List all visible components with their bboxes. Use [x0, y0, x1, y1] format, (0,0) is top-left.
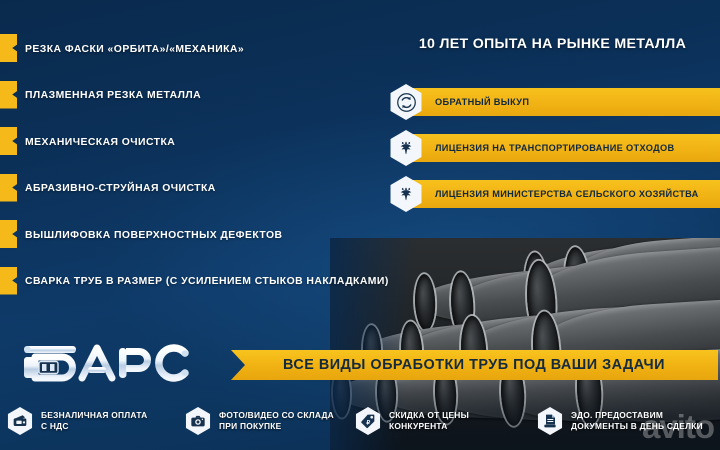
feature-label: ЭДО. ПРЕДОСТАВИМ ДОКУМЕНТЫ В ДЕНЬ СДЕЛКИ	[571, 410, 703, 432]
service-item: СВАРКА ТРУБ В РАЗМЕР (С УСИЛЕНИЕМ СТЫКОВ…	[0, 259, 400, 306]
credentials-badges: ОБРАТНЫЙ ВЫКУП ЛИЦЕНЗИЯ НА ТРАНСПОРТИРОВ…	[388, 84, 720, 222]
credential-label: ЛИЦЕНЗИЯ НА ТРАНСПОРТИРОВАНИЕ ОТХОДОВ	[435, 134, 675, 162]
feature-item: БЕЗНАЛИЧНАЯ ОПЛАТА С НДС	[0, 398, 178, 444]
feature-item: ЭДО. ПРЕДОСТАВИМ ДОКУМЕНТЫ В ДЕНЬ СДЕЛКИ	[530, 398, 720, 444]
credential-badge: ЛИЦЕНЗИЯ МИНИСТЕРСТВА СЕЛЬСКОГО ХОЗЯЙСТВ…	[388, 176, 720, 222]
feature-label-line1: СКИДКА ОТ ЦЕНЫ КОНКУРЕНТА	[389, 410, 469, 431]
service-label: АБРАЗИВНО-СТРУЙНАЯ ОЧИСТКА	[25, 183, 216, 194]
service-label: МЕХАНИЧЕСКАЯ ОЧИСТКА	[25, 137, 175, 148]
service-label: СВАРКА ТРУБ В РАЗМЕР (С УСИЛЕНИЕМ СТЫКОВ…	[25, 276, 389, 287]
service-label: ПЛАЗМЕННАЯ РЕЗКА МЕТАЛЛА	[25, 90, 201, 101]
feature-label: ФОТО/ВИДЕО СО СКЛАДА ПРИ ПОКУПКЕ	[219, 410, 334, 432]
services-list: РЕЗКА ФАСКИ «ОРБИТА»/«МЕХАНИКА» ПЛАЗМЕНН…	[0, 26, 400, 305]
headline-text: 10 ЛЕТ ОПЫТА НА РЫНКЕ МЕТАЛЛА	[400, 36, 705, 52]
bullet-tab-icon	[0, 174, 17, 202]
company-logo	[18, 340, 193, 384]
service-item: ВЫШЛИФОВКА ПОВЕРХНОСТНЫХ ДЕФЕКТОВ	[0, 212, 400, 259]
feature-label-line1: БЕЗНАЛИЧНАЯ ОПЛАТА	[41, 410, 147, 420]
feature-label-line2: ДОКУМЕНТЫ В ДЕНЬ СДЕЛКИ	[571, 421, 703, 432]
feature-label-line2: ПРИ ПОКУПКЕ	[219, 421, 334, 432]
bullet-tab-icon	[0, 127, 17, 155]
bullet-tab-icon	[0, 81, 17, 109]
feature-label: СКИДКА ОТ ЦЕНЫ КОНКУРЕНТА	[389, 410, 530, 432]
advertisement-banner: РЕЗКА ФАСКИ «ОРБИТА»/«МЕХАНИКА» ПЛАЗМЕНН…	[0, 0, 720, 450]
price-tag-icon: ₽	[354, 407, 382, 435]
credential-label: ОБРАТНЫЙ ВЫКУП	[435, 88, 529, 116]
document-icon	[536, 407, 564, 435]
credential-badge: ЛИЦЕНЗИЯ НА ТРАНСПОРТИРОВАНИЕ ОТХОДОВ	[388, 130, 720, 176]
service-item: ПЛАЗМЕННАЯ РЕЗКА МЕТАЛЛА	[0, 73, 400, 120]
bullet-tab-icon	[0, 34, 17, 62]
main-banner-text: ВСЕ ВИДЫ ОБРАБОТКИ ТРУБ ПОД ВАШИ ЗАДАЧИ	[271, 357, 665, 373]
feature-label-line2: С НДС	[41, 421, 147, 432]
service-label: РЕЗКА ФАСКИ «ОРБИТА»/«МЕХАНИКА»	[25, 44, 244, 55]
feature-label-line1: ФОТО/ВИДЕО СО СКЛАДА	[219, 410, 334, 420]
feature-item: ₽ СКИДКА ОТ ЦЕНЫ КОНКУРЕНТА	[348, 398, 530, 444]
bullet-tab-icon	[0, 220, 17, 248]
service-item: РЕЗКА ФАСКИ «ОРБИТА»/«МЕХАНИКА»	[0, 26, 400, 73]
features-strip: БЕЗНАЛИЧНАЯ ОПЛАТА С НДС ФОТО/ВИДЕО СО С…	[0, 398, 720, 444]
credential-label: ЛИЦЕНЗИЯ МИНИСТЕРСТВА СЕЛЬСКОГО ХОЗЯЙСТВ…	[435, 180, 699, 208]
credential-badge: ОБРАТНЫЙ ВЫКУП	[388, 84, 720, 130]
main-banner: ВСЕ ВИДЫ ОБРАБОТКИ ТРУБ ПОД ВАШИ ЗАДАЧИ	[218, 350, 718, 380]
svg-text:₽: ₽	[366, 419, 370, 426]
bullet-tab-icon	[0, 267, 17, 295]
feature-label-line1: ЭДО. ПРЕДОСТАВИМ	[571, 410, 663, 420]
service-item: МЕХАНИЧЕСКАЯ ОЧИСТКА	[0, 119, 400, 166]
service-label: ВЫШЛИФОВКА ПОВЕРХНОСТНЫХ ДЕФЕКТОВ	[25, 230, 282, 241]
feature-item: ФОТО/ВИДЕО СО СКЛАДА ПРИ ПОКУПКЕ	[178, 398, 348, 444]
wallet-cash-icon	[6, 407, 34, 435]
service-item: АБРАЗИВНО-СТРУЙНАЯ ОЧИСТКА	[0, 166, 400, 213]
camera-icon	[184, 407, 212, 435]
feature-label: БЕЗНАЛИЧНАЯ ОПЛАТА С НДС	[41, 410, 147, 432]
